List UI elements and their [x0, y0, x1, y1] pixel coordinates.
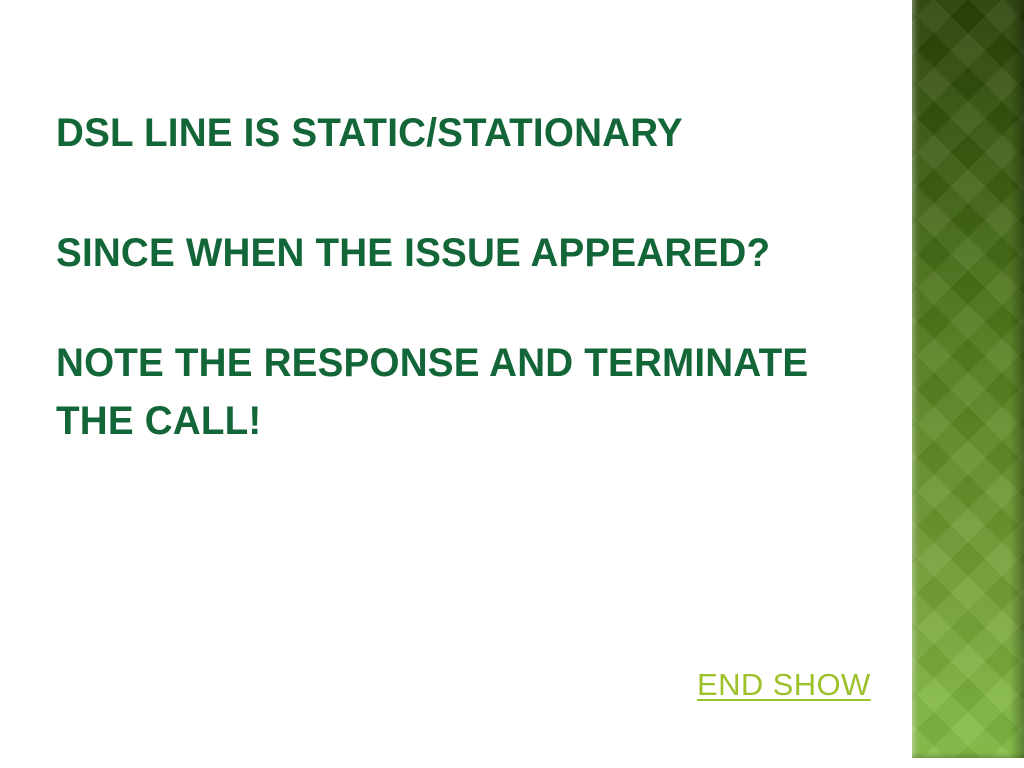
- decorative-side-band: [912, 0, 1024, 758]
- end-show-link[interactable]: END SHOW: [697, 668, 871, 702]
- body-paragraph-3: NOTE THE RESPONSE AND TERMINATE THE CALL…: [56, 334, 912, 450]
- body-paragraph-2: SINCE WHEN THE ISSUE APPEARED?: [56, 224, 912, 282]
- slide-body-text: DSL LINE IS STATIC/STATIONARY SINCE WHEN…: [56, 104, 912, 450]
- end-show-link-container: END SHOW: [697, 668, 897, 702]
- presentation-slide: DSL LINE IS STATIC/STATIONARY SINCE WHEN…: [0, 0, 1024, 768]
- body-line-4: THE CALL!: [56, 392, 882, 450]
- body-paragraph-1: DSL LINE IS STATIC/STATIONARY: [56, 104, 912, 162]
- side-band-bottom-shadow: [912, 752, 1024, 758]
- side-band-diamond-pattern: [912, 0, 1024, 758]
- side-band-left-highlight: [912, 0, 920, 758]
- body-line-1: DSL LINE IS STATIC/STATIONARY: [56, 104, 882, 162]
- body-line-2: SINCE WHEN THE ISSUE APPEARED?: [56, 224, 882, 282]
- body-line-3: NOTE THE RESPONSE AND TERMINATE: [56, 334, 882, 392]
- side-band-right-shadow: [1010, 0, 1024, 758]
